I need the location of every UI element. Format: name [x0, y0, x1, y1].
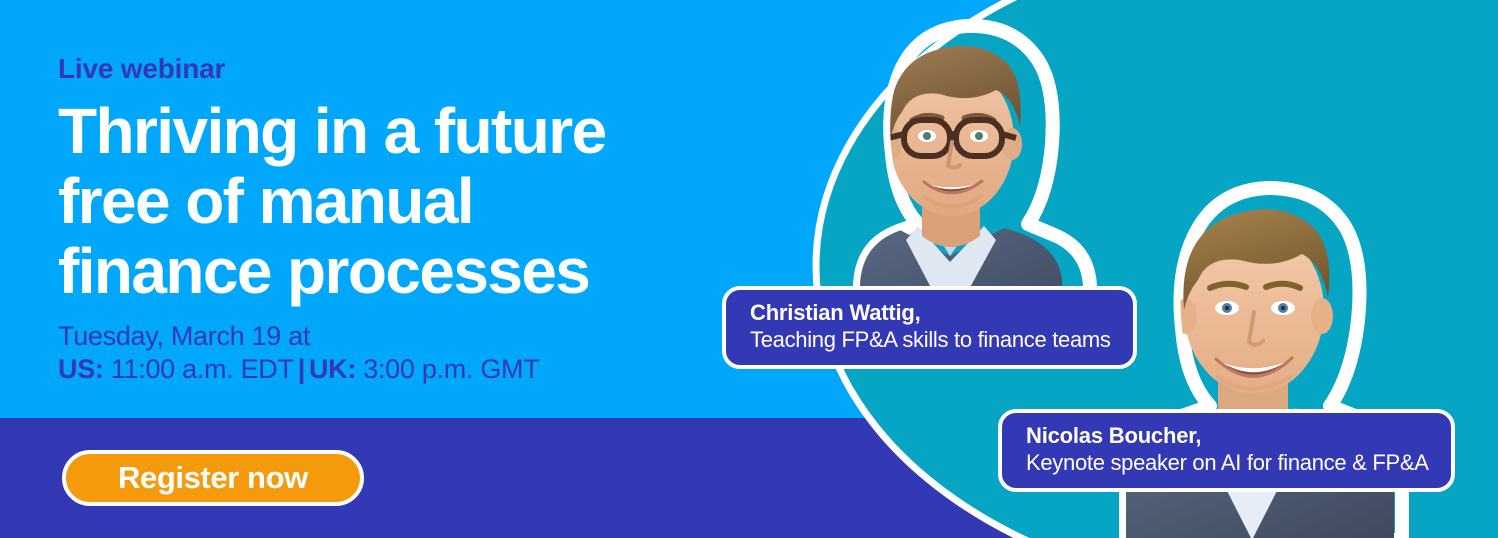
- headline-line-2: free of manual: [58, 166, 798, 236]
- page-title: Thriving in a future free of manual fina…: [58, 96, 798, 306]
- register-now-button[interactable]: Register now: [62, 450, 364, 506]
- us-time-value: 11:00 a.m. EDT: [111, 354, 294, 384]
- speaker-2-name: Nicolas Boucher,: [1026, 422, 1429, 449]
- time-separator: |: [294, 354, 309, 384]
- webinar-date: Tuesday, March 19 at: [58, 320, 798, 353]
- headline-line-3: finance processes: [58, 236, 798, 306]
- webinar-times: US: 11:00 a.m. EDT|UK: 3:00 p.m. GMT: [58, 353, 798, 386]
- speaker-2-role: Keynote speaker on AI for finance & FP&A: [1026, 449, 1429, 477]
- speaker-1-name-card: Christian Wattig, Teaching FP&A skills t…: [722, 286, 1137, 369]
- headline-line-1: Thriving in a future: [58, 96, 798, 166]
- webinar-datetime: Tuesday, March 19 at US: 11:00 a.m. EDT|…: [58, 320, 798, 386]
- speaker-2-name-card: Nicolas Boucher, Keynote speaker on AI f…: [998, 409, 1455, 492]
- left-content-column: Live webinar Thriving in a future free o…: [58, 52, 798, 386]
- uk-time-value: 3:00 p.m. GMT: [363, 354, 539, 384]
- eyebrow-label: Live webinar: [58, 52, 798, 86]
- us-timezone-label: US:: [58, 354, 104, 384]
- webinar-promo-banner: Live webinar Thriving in a future free o…: [0, 0, 1498, 538]
- uk-timezone-label: UK:: [309, 354, 356, 384]
- speaker-1-name: Christian Wattig,: [750, 299, 1111, 326]
- speaker-1-photo: [800, 0, 1110, 324]
- speaker-1-role: Teaching FP&A skills to finance teams: [750, 326, 1111, 354]
